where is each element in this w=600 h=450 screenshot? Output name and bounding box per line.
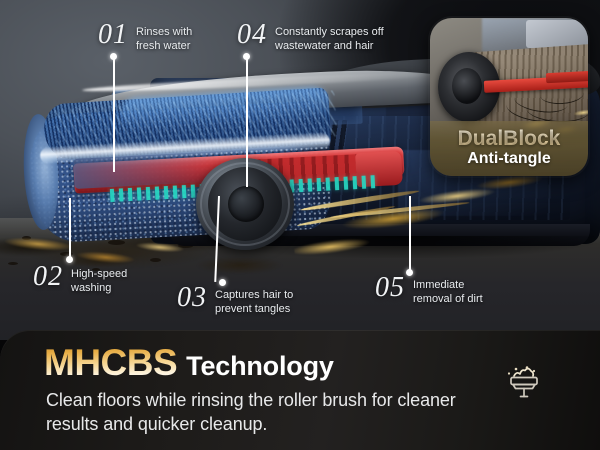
callout-01-number: 01 (98, 22, 128, 49)
leader-line-02 (69, 198, 71, 258)
banner-title: MHCBS Technology (44, 344, 334, 381)
callout-03-number: 03 (177, 285, 207, 312)
leader-dot-02 (66, 256, 73, 263)
roller-brush-wash-icon (500, 358, 548, 406)
infographic-stage: 01 Rinses with fresh water 04 Constantly… (0, 0, 600, 450)
callout-05-number: 05 (375, 275, 405, 302)
callout-04-text: Constantly scrapes off wastewater and ha… (275, 22, 403, 54)
callout-03-text: Captures hair to prevent tangles (215, 285, 301, 317)
leader-line-01 (113, 57, 115, 172)
inset-title: DualBlock (436, 128, 582, 149)
leader-line-04 (246, 57, 248, 187)
leader-line-05 (409, 196, 411, 272)
callout-05: 05 Immediate removal of dirt (375, 275, 505, 307)
callout-04-number: 04 (237, 22, 267, 49)
inset-red-scraper-second (546, 71, 588, 83)
inset-roller-hub-center (452, 68, 482, 104)
leader-dot-04 (243, 53, 250, 60)
banner-subtitle: Clean floors while rinsing the roller br… (46, 388, 466, 436)
callout-04: 04 Constantly scrapes off wastewater and… (237, 22, 403, 54)
banner-title-rest: Technology (186, 353, 334, 380)
callout-05-text: Immediate removal of dirt (413, 275, 505, 307)
callout-01-text: Rinses with fresh water (136, 22, 218, 54)
callout-02-text: High-speed washing (71, 264, 147, 296)
inset-label-panel: DualBlock Anti-tangle (430, 121, 588, 176)
leader-dot-01 (110, 53, 117, 60)
callout-01: 01 Rinses with fresh water (98, 22, 218, 54)
banner-brand-name: MHCBS (44, 344, 177, 381)
bottom-banner: MHCBS Technology Clean floors while rins… (0, 330, 600, 450)
inset-subtitle: Anti-tangle (436, 150, 582, 167)
roller-hub-center (228, 186, 264, 222)
callout-02-number: 02 (33, 264, 63, 291)
callout-03: 03 Captures hair to prevent tangles (177, 285, 301, 317)
callout-02: 02 High-speed washing (33, 264, 147, 296)
dualblock-inset-card[interactable]: DualBlock Anti-tangle (430, 18, 588, 176)
